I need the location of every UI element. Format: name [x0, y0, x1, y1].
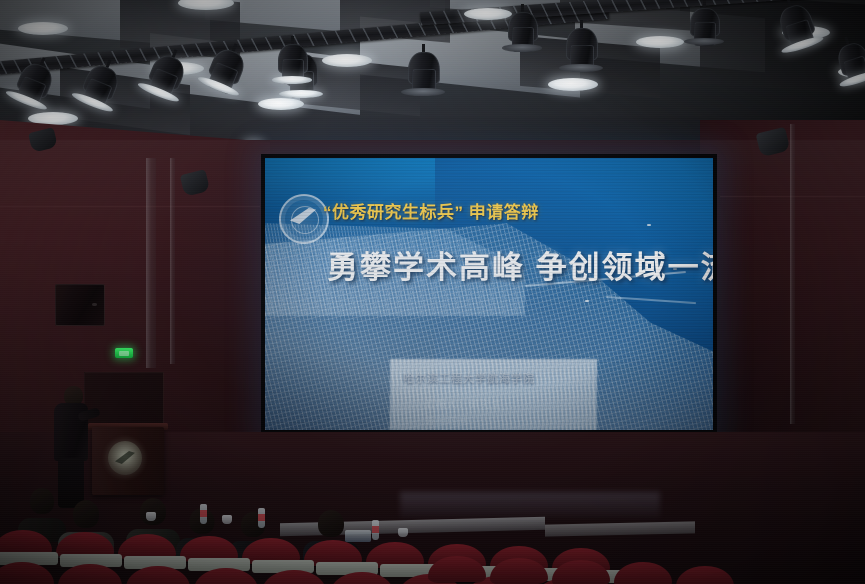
screen-vignette: [265, 158, 713, 430]
paper-cup: [146, 512, 156, 521]
water-bottle: [258, 508, 265, 528]
ceiling-downlight: [548, 78, 598, 91]
paper-cup: [222, 515, 232, 524]
stage-spotlight: [278, 36, 306, 80]
wall-pillar: [790, 124, 795, 424]
paper-cup: [398, 528, 408, 537]
lectern-back-panel: [84, 372, 164, 430]
tissue-box: [345, 530, 371, 542]
house-light-glow: [400, 492, 660, 518]
audience-head: [73, 500, 99, 528]
stage-spotlight: [566, 20, 596, 68]
stage-spotlight: [690, 0, 718, 42]
wall-pillar: [170, 158, 175, 364]
auditorium-photo: “优秀研究生标兵” 申请答辩 勇攀学术高峰 争创领域一流 哈尔滨工程大学航海学院…: [0, 0, 865, 584]
audience-head: [318, 510, 344, 537]
water-bottle: [372, 520, 379, 540]
wall-loudspeaker: [55, 284, 105, 326]
ceiling-downlight: [322, 54, 372, 67]
exit-sign-icon: [115, 348, 133, 358]
ceiling-downlight: [636, 36, 684, 48]
ceiling-downlight: [464, 8, 512, 20]
stage-spotlight: [508, 4, 536, 48]
led-screen: “优秀研究生标兵” 申请答辩 勇攀学术高峰 争创领域一流 哈尔滨工程大学航海学院…: [265, 158, 713, 430]
stage-spotlight: [408, 44, 438, 92]
ceiling-downlight: [18, 22, 68, 35]
ceiling-downlight: [258, 98, 304, 110]
audience-head: [30, 488, 54, 514]
lectern: [92, 427, 164, 495]
wall-seam: [0, 206, 260, 207]
water-bottle: [200, 504, 207, 524]
wall-pillar: [146, 158, 156, 368]
university-crest-icon: [108, 441, 142, 475]
